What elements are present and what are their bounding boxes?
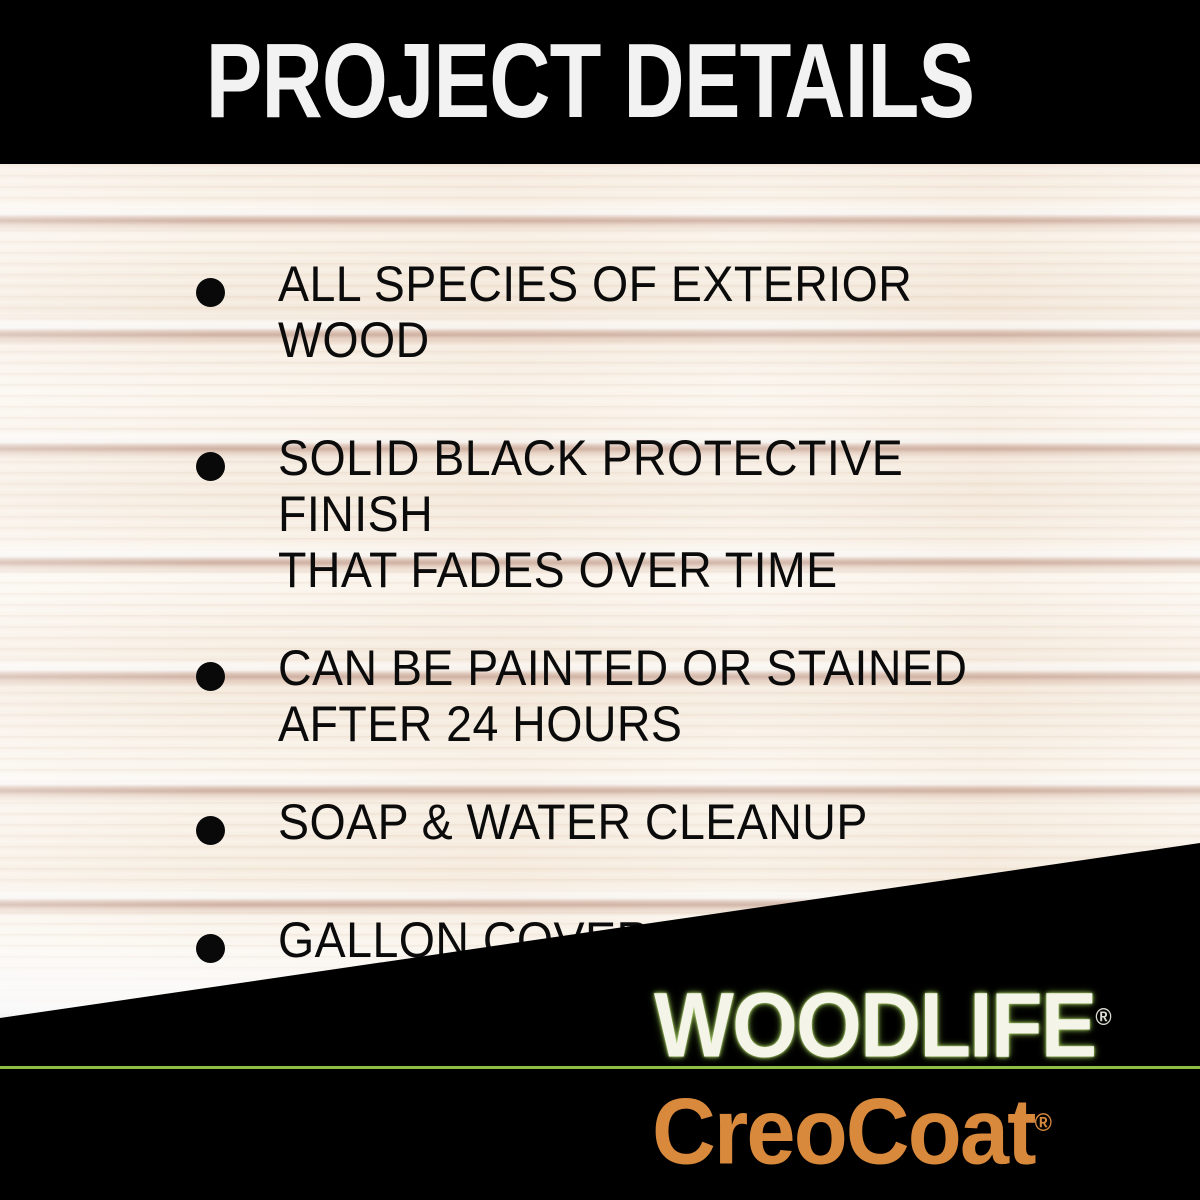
list-item: SOAP & WATER CLEANUP — [196, 794, 1096, 850]
product-wordmark-text: CreoCoat — [652, 1078, 1035, 1183]
bullet-dot-icon — [196, 452, 225, 481]
brand-logo: WOODLIFE® CreoCoat® — [650, 972, 1190, 1182]
page-title: PROJECT DETAILS — [118, 28, 1062, 134]
brand-divider-rule — [0, 1066, 1200, 1069]
product-wordmark: CreoCoat® — [652, 1076, 1052, 1178]
list-item: SOLID BLACK PROTECTIVE FINISH THAT FADES… — [196, 430, 1096, 598]
bullet-dot-icon — [196, 662, 225, 691]
list-item: ALL SPECIES OF EXTERIOR WOOD — [196, 256, 1096, 368]
list-item-label: SOLID BLACK PROTECTIVE FINISH THAT FADES… — [278, 430, 1039, 598]
bullet-dot-icon — [196, 934, 225, 963]
registered-trademark-icon: ® — [1035, 1109, 1052, 1137]
list-item-label: CAN BE PAINTED OR STAINED AFTER 24 HOURS — [278, 640, 1039, 752]
header-banner: PROJECT DETAILS — [0, 0, 1200, 164]
brand-wordmark-text: WOODLIFE — [654, 975, 1095, 1077]
list-item-label: ALL SPECIES OF EXTERIOR WOOD — [278, 256, 1039, 368]
bullet-dot-icon — [196, 278, 225, 307]
list-item-label: SOAP & WATER CLEANUP — [278, 794, 1039, 850]
list-item: CAN BE PAINTED OR STAINED AFTER 24 HOURS — [196, 640, 1096, 752]
registered-trademark-icon: ® — [1095, 1004, 1111, 1031]
brand-wordmark: WOODLIFE® — [654, 972, 1112, 1072]
product-detail-card: PROJECT DETAILS ALL SPECIES OF EXTERIOR … — [0, 0, 1200, 1200]
bullet-dot-icon — [196, 816, 225, 845]
